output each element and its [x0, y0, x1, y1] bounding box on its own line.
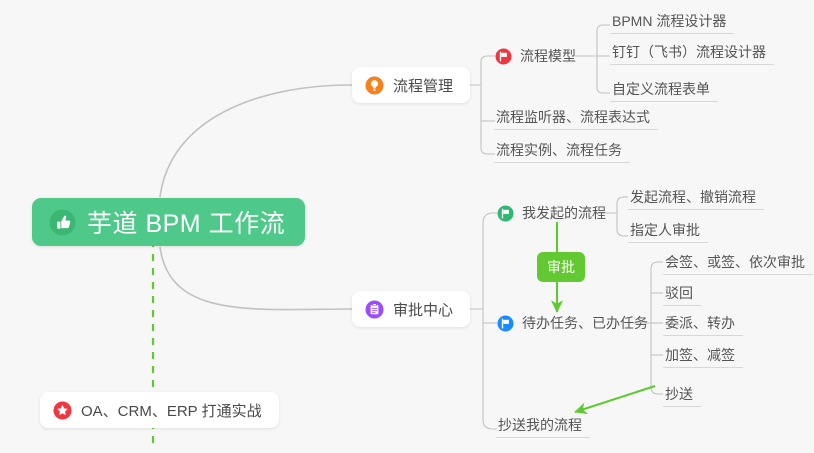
leaf-assigned-approval[interactable]: 指定人审批	[628, 217, 708, 243]
leaf-cc[interactable]: 抄送	[663, 381, 701, 407]
mindmap-canvas: 芋道 BPM 工作流 OA、CRM、ERP 打通实战 流程管理	[0, 0, 814, 453]
leaf-label: 钉钉（飞书）流程设计器	[612, 42, 766, 64]
thumbs-up-icon	[49, 209, 76, 236]
node-my-started-process[interactable]: 我发起的流程	[497, 201, 606, 225]
node-label: 流程模型	[520, 46, 576, 66]
root-node[interactable]: 芋道 BPM 工作流	[32, 198, 305, 246]
leaf-cc-my-process[interactable]: 抄送我的流程	[496, 412, 590, 438]
branch-label: 流程管理	[393, 75, 453, 96]
flag-blue-icon	[497, 315, 514, 332]
wire-started-child-1	[617, 197, 628, 204]
clipboard-icon	[365, 300, 384, 319]
leaf-countersign[interactable]: 会签、或签、依次审批	[663, 249, 813, 275]
lightbulb-icon	[365, 76, 384, 95]
leaf-label: 会签、或签、依次审批	[665, 252, 805, 274]
leaf-delegate-transfer[interactable]: 委派、转办	[663, 310, 743, 336]
wire-todo-child-1	[651, 262, 663, 269]
leaf-label: 委派、转办	[665, 313, 735, 335]
leaf-label: 发起流程、撤销流程	[630, 187, 756, 209]
leaf-label: 指定人审批	[630, 220, 700, 242]
wire-pm-child-1	[481, 56, 495, 62]
wire-ac-child-1	[483, 213, 497, 223]
leaf-label: BPMN 流程设计器	[612, 11, 726, 33]
wire-todo-child-5	[651, 387, 663, 394]
leaf-dingtalk-designer[interactable]: 钉钉（飞书）流程设计器	[610, 39, 774, 65]
leaf-label: 抄送	[665, 384, 693, 406]
leaf-label: 抄送我的流程	[498, 415, 582, 437]
wire-root-to-approval-center	[160, 247, 352, 310]
leaf-label: 流程监听器、流程表达式	[496, 107, 650, 129]
arrow-cc-flow	[575, 386, 655, 412]
leaf-label: 自定义流程表单	[612, 79, 710, 101]
leaf-add-remove-sign[interactable]: 加签、减签	[663, 342, 743, 368]
footnote-label: OA、CRM、ERP 打通实战	[81, 400, 262, 421]
branch-process-management[interactable]: 流程管理	[352, 67, 470, 103]
wire-pm-child-3	[481, 148, 495, 154]
wire-root-to-process-management	[160, 85, 352, 197]
wire-model-child-1	[597, 25, 610, 31]
node-label: 待办任务、已办任务	[522, 313, 648, 333]
wire-ac-child-3	[483, 420, 497, 429]
leaf-custom-form[interactable]: 自定义流程表单	[610, 76, 718, 102]
branch-label: 审批中心	[393, 299, 453, 320]
leaf-start-cancel-process[interactable]: 发起流程、撤销流程	[628, 184, 764, 210]
root-label: 芋道 BPM 工作流	[87, 204, 285, 240]
leaf-reject[interactable]: 驳回	[663, 280, 701, 306]
node-todo-done-tasks[interactable]: 待办任务、已办任务	[497, 311, 648, 335]
footnote-node[interactable]: OA、CRM、ERP 打通实战	[40, 392, 279, 428]
tag-label: 审批	[547, 257, 575, 277]
wire-model-child-3	[597, 87, 610, 93]
tag-approve[interactable]: 审批	[537, 252, 585, 282]
node-label: 我发起的流程	[522, 203, 606, 223]
flag-red-icon	[495, 48, 512, 65]
leaf-label: 流程实例、流程任务	[496, 140, 622, 162]
leaf-label: 加签、减签	[665, 345, 735, 367]
flag-green-icon	[497, 205, 514, 222]
leaf-label: 驳回	[665, 283, 693, 305]
leaf-process-instance[interactable]: 流程实例、流程任务	[494, 137, 630, 163]
node-process-model[interactable]: 流程模型	[495, 44, 576, 68]
leaf-process-listener[interactable]: 流程监听器、流程表达式	[494, 104, 658, 130]
star-icon	[53, 401, 72, 420]
leaf-bpmn-designer[interactable]: BPMN 流程设计器	[610, 8, 734, 34]
wire-started-child-2	[617, 229, 628, 236]
branch-approval-center[interactable]: 审批中心	[352, 291, 470, 327]
